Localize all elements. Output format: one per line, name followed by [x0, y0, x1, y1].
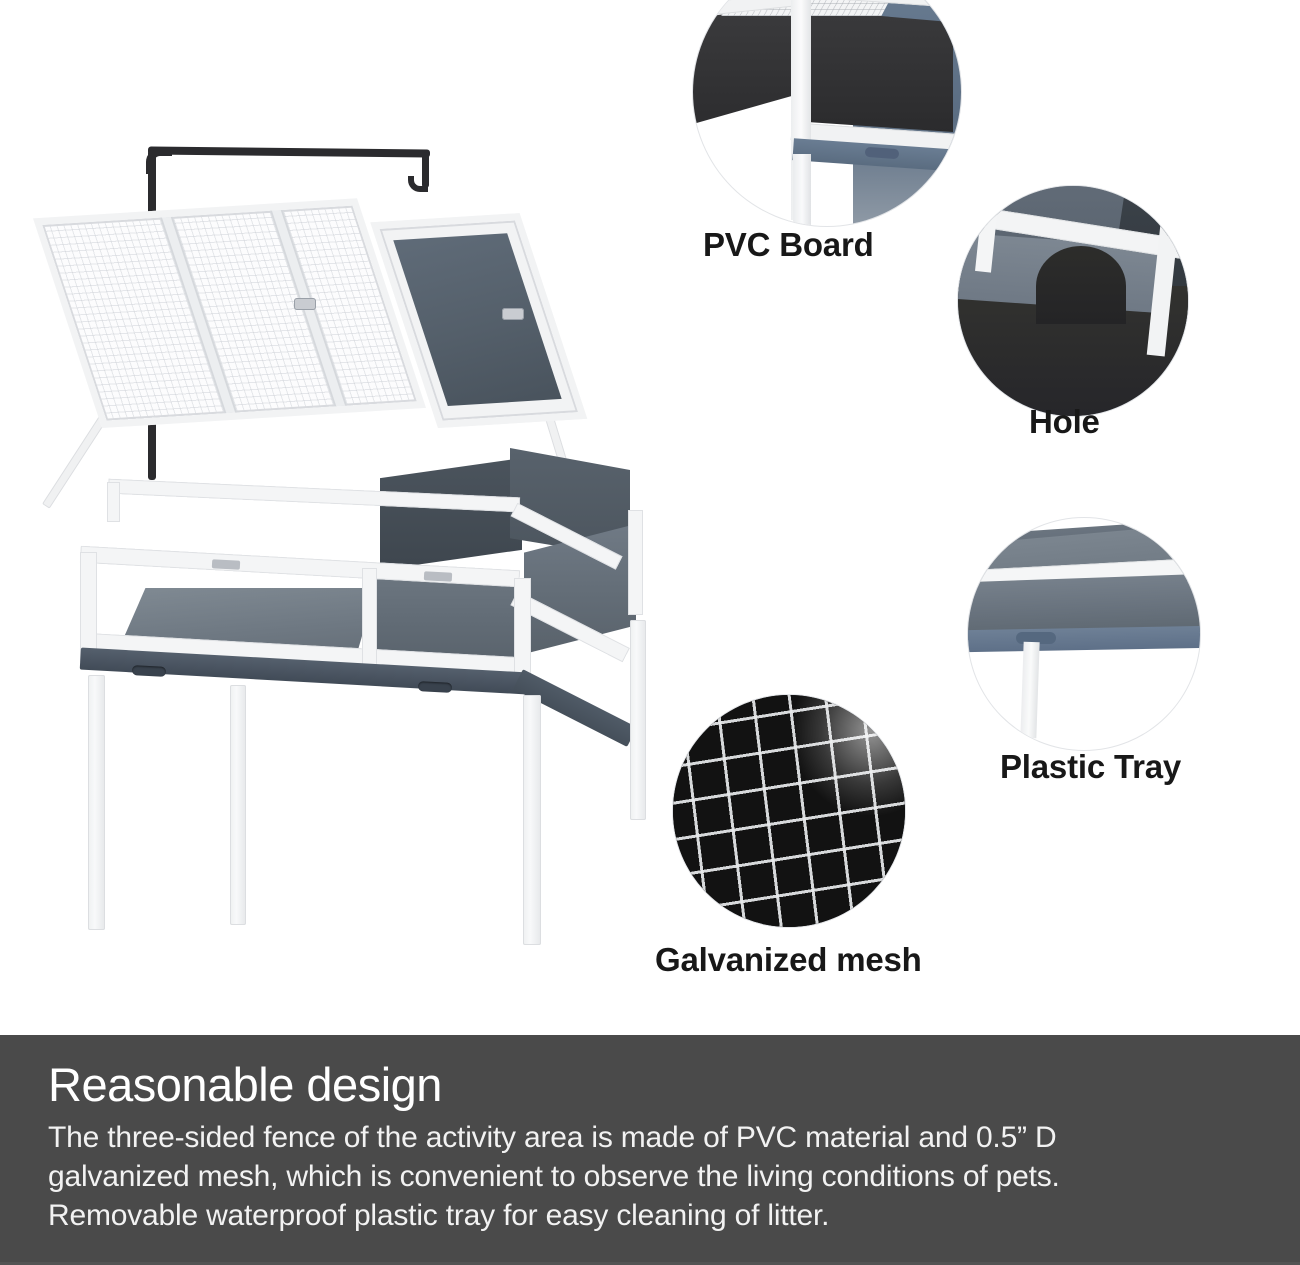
- lid-mesh-panel: [33, 198, 426, 428]
- banner-body-line: The three-sided fence of the activity ar…: [48, 1118, 1252, 1157]
- metal-bracket-icon: [424, 571, 452, 581]
- banner-body-text: The three-sided fence of the activity ar…: [48, 1118, 1252, 1235]
- callout-label-plastic-tray: Plastic Tray: [1000, 748, 1181, 786]
- callout-label-galvanized-mesh: Galvanized mesh: [655, 941, 922, 979]
- frame-post-left-back: [107, 482, 120, 522]
- lid-hinge-icon: [502, 308, 524, 320]
- feature-description-banner: Reasonable design The three-sided fence …: [0, 1035, 1300, 1265]
- pvc-leg: [793, 154, 811, 226]
- tray-closeup-leg-front: [1020, 642, 1039, 738]
- galvanized-mesh-grid: [673, 695, 905, 927]
- callout-circle-galvanized-mesh: [673, 695, 905, 927]
- banner-body-line: galvanized mesh, which is convenient to …: [48, 1157, 1252, 1196]
- hutch-leg-front-right: [523, 695, 541, 945]
- tray-handle-left: [132, 665, 167, 677]
- pvc-board-dark-left: [693, 6, 801, 124]
- tray-closeup-blue-edge: [968, 626, 1200, 652]
- callout-circle-hole: [958, 186, 1188, 416]
- callout-circle-pvc-board: [693, 0, 961, 226]
- main-product-photo: [40, 130, 630, 920]
- callout-circle-plastic-tray: [968, 518, 1200, 750]
- hutch-leg-back-right: [630, 620, 646, 820]
- hutch-open-lid: [102, 218, 594, 448]
- frame-post-back-right: [628, 510, 643, 615]
- metal-bracket-icon: [212, 559, 240, 569]
- hook-bar-hook-icon: [408, 176, 428, 192]
- infographic-page: PVC Board Hole Plastic Tray: [0, 0, 1300, 1265]
- interior-back-panel: [380, 458, 522, 570]
- frame-post-front-middle: [362, 568, 377, 673]
- hutch-leg-middle-front: [230, 685, 246, 925]
- hole-arch-opening-icon: [1036, 246, 1126, 324]
- banner-body-line: Removable waterproof plastic tray for ea…: [48, 1196, 1252, 1235]
- product-content-area: PVC Board Hole Plastic Tray: [0, 0, 1300, 1035]
- frame-post-front-left: [80, 552, 97, 662]
- callout-label-hole: Hole: [1029, 403, 1100, 441]
- lid-wood-panel-surface: [393, 233, 561, 406]
- banner-title: Reasonable design: [48, 1061, 1252, 1108]
- lid-mesh-divider: [160, 217, 237, 413]
- tray-handle-right: [418, 681, 453, 693]
- callout-label-pvc-board: PVC Board: [703, 226, 874, 264]
- lid-hinge-icon: [294, 298, 316, 310]
- pvc-board-dark-right: [811, 10, 953, 132]
- hook-bar-horizontal: [148, 147, 430, 158]
- hutch-leg-front-left: [88, 675, 105, 930]
- hutch-body: [62, 440, 622, 670]
